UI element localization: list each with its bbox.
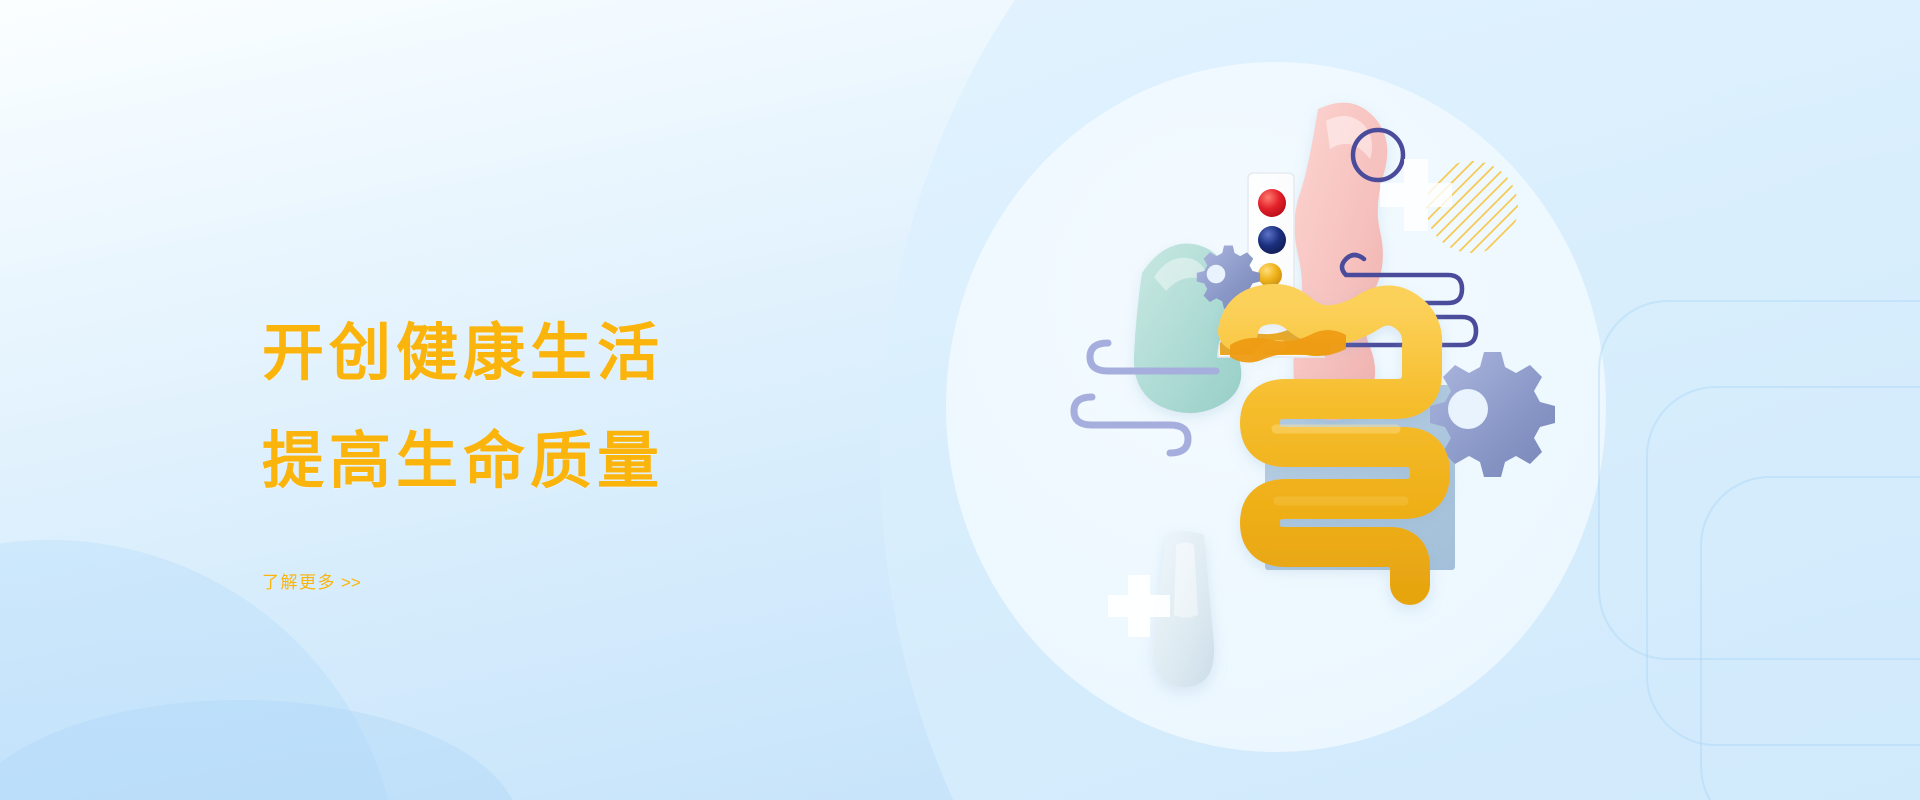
learn-more-label: 了解更多: [262, 573, 336, 592]
learn-more-link[interactable]: 了解更多>>: [262, 568, 361, 593]
chevron-double-right-icon: >>: [341, 573, 361, 592]
headline-line-1: 开创健康生活: [262, 300, 822, 408]
pill-dot-yellow: [1258, 263, 1282, 287]
background-rounded-rect-3: [1700, 476, 1920, 800]
hero-banner: 开创健康生活 提高生命质量 了解更多>>: [0, 0, 1920, 800]
digestive-health-illustration: [1080, 95, 1600, 715]
hero-copy-block: 开创健康生活 提高生命质量 了解更多>>: [262, 300, 822, 593]
pill-dot-red: [1258, 189, 1286, 217]
pill-dot-navy: [1258, 226, 1286, 254]
stomach-pink-organ: [1294, 103, 1388, 421]
headline-line-2: 提高生命质量: [262, 408, 822, 516]
